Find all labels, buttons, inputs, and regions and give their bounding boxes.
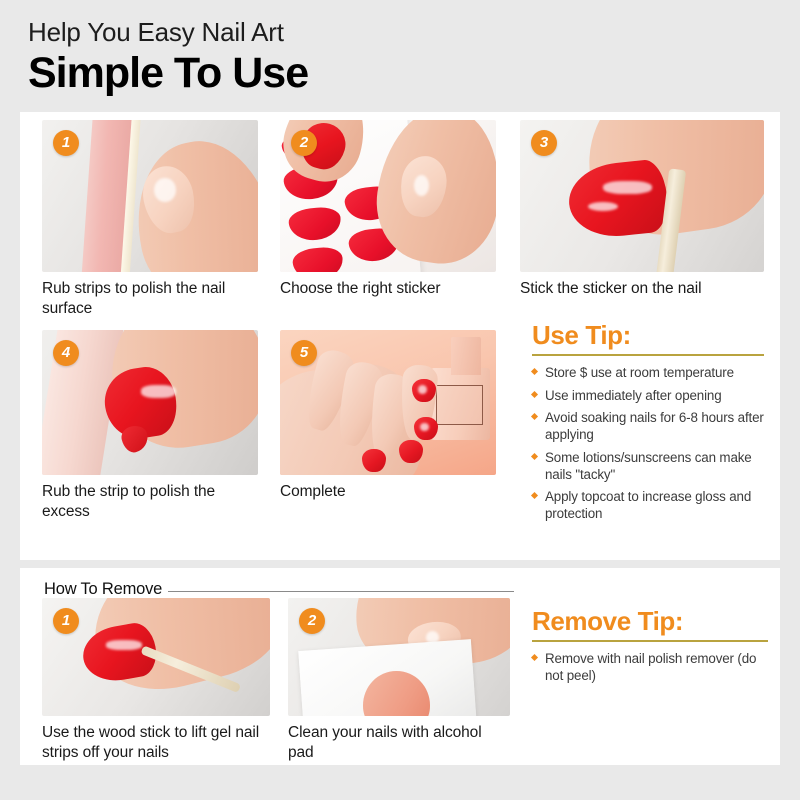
step-badge-1: 1 (53, 130, 79, 156)
bullet-diamond-icon (531, 492, 538, 499)
step-caption-4: Rub the strip to polish the excess (42, 482, 258, 523)
remove-badge-1: 1 (53, 608, 79, 634)
use-tip-heading: Use Tip: (532, 322, 764, 349)
remove-caption-1: Use the wood stick to lift gel nail stri… (42, 723, 270, 764)
step-tile-4: 4 Rub the strip to polish the excess (42, 330, 258, 523)
remove-photo-1: 1 (42, 598, 270, 716)
step-caption-1: Rub strips to polish the nail surface (42, 279, 258, 320)
remove-section-header: How To Remove (44, 580, 514, 599)
step-photo-4: 4 (42, 330, 258, 475)
remove-tip-panel: Remove Tip: Remove with nail polish remo… (532, 608, 768, 690)
remove-tile-1: 1 Use the wood stick to lift gel nail st… (42, 598, 270, 764)
step-caption-3: Stick the sticker on the nail (520, 279, 764, 299)
bullet-diamond-icon (531, 413, 538, 420)
step-tile-3: 3 Stick the sticker on the nail (520, 120, 764, 299)
bullet-diamond-icon (531, 453, 538, 460)
header-subtitle: Help You Easy Nail Art (28, 18, 728, 47)
bullet-diamond-icon (531, 368, 538, 375)
use-tip-divider (532, 354, 764, 356)
remove-tip-divider (532, 640, 768, 642)
step-photo-3: 3 (520, 120, 764, 272)
bullet-diamond-icon (531, 391, 538, 398)
bullet-diamond-icon (531, 654, 538, 661)
infographic-page: Help You Easy Nail Art Simple To Use 1 R… (0, 0, 800, 800)
remove-tip-list: Remove with nail polish remover (do not … (532, 651, 768, 685)
use-tip-item: Apply topcoat to increase gloss and prot… (532, 489, 764, 523)
use-tip-item: Store $ use at room temperature (532, 365, 764, 382)
use-tip-panel: Use Tip: Store $ use at room temperature… (532, 322, 764, 529)
remove-tip-item: Remove with nail polish remover (do not … (532, 651, 768, 685)
use-tip-item: Use immediately after opening (532, 388, 764, 405)
step-photo-5: 5 (280, 330, 496, 475)
remove-section-rule (168, 591, 514, 592)
step-badge-4: 4 (53, 340, 79, 366)
remove-section-title: How To Remove (44, 580, 162, 599)
use-tip-list: Store $ use at room temperature Use imme… (532, 365, 764, 523)
remove-tip-item-text: Remove with nail polish remover (do not … (545, 651, 756, 683)
use-tip-item-text: Store $ use at room temperature (545, 365, 734, 380)
step-photo-2: 2 (280, 120, 496, 272)
step-badge-3: 3 (531, 130, 557, 156)
remove-tile-2: 2 Clean your nails with alcohol pad (288, 598, 510, 764)
use-tip-item-text: Some lotions/sunscreens can make nails "… (545, 450, 752, 482)
remove-caption-2: Clean your nails with alcohol pad (288, 723, 510, 764)
remove-badge-2: 2 (299, 608, 325, 634)
page-header: Help You Easy Nail Art Simple To Use (28, 18, 728, 96)
step-tile-2: 2 Choose the right sticker (280, 120, 496, 299)
step-tile-5: 5 Complete (280, 330, 496, 502)
use-tip-item-text: Apply topcoat to increase gloss and prot… (545, 489, 751, 521)
use-tip-item-text: Avoid soaking nails for 6-8 hours after … (545, 410, 764, 442)
remove-tip-heading: Remove Tip: (532, 608, 768, 635)
use-tip-item: Some lotions/sunscreens can make nails "… (532, 450, 764, 484)
step-caption-5: Complete (280, 482, 496, 502)
step-badge-5: 5 (291, 340, 317, 366)
step-badge-2: 2 (291, 130, 317, 156)
use-tip-item-text: Use immediately after opening (545, 388, 722, 403)
use-tip-item: Avoid soaking nails for 6-8 hours after … (532, 410, 764, 444)
remove-photo-2: 2 (288, 598, 510, 716)
step-photo-1: 1 (42, 120, 258, 272)
step-caption-2: Choose the right sticker (280, 279, 496, 299)
step-tile-1: 1 Rub strips to polish the nail surface (42, 120, 258, 320)
page-title: Simple To Use (28, 50, 728, 96)
